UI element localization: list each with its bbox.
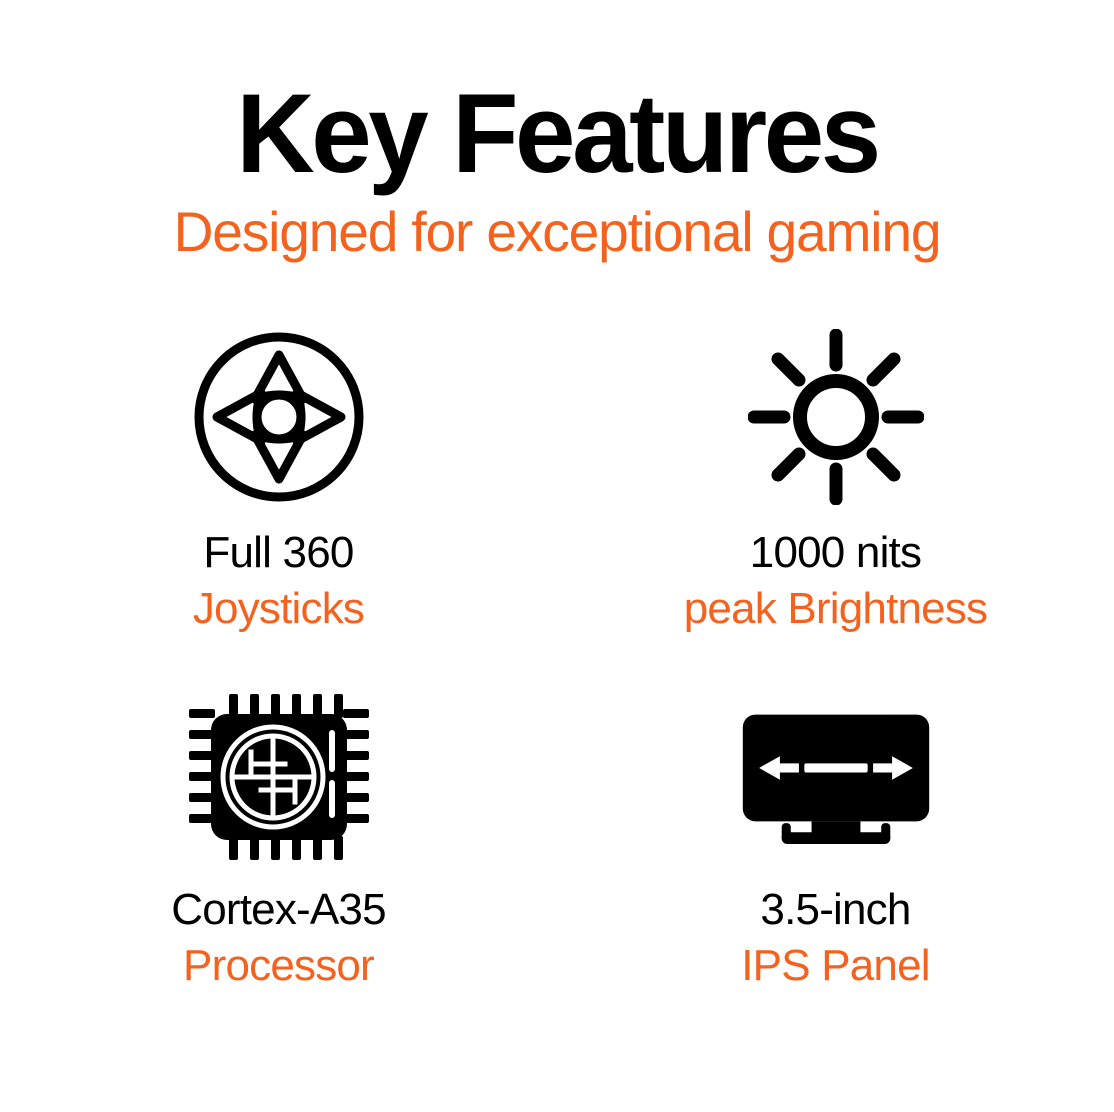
feature-primary-label: 1000 nits — [684, 528, 988, 578]
feature-secondary-label: Joysticks — [193, 584, 364, 634]
feature-card-joysticks: Full 360 Joysticks — [0, 322, 557, 687]
page-title: Key Features — [17, 78, 1098, 190]
joystick-dpad-icon — [184, 322, 374, 512]
feature-card-ips-panel: 3.5-inch IPS Panel — [557, 687, 1114, 1052]
feature-labels: 1000 nits peak Brightness — [684, 528, 988, 634]
brightness-sun-icon — [741, 322, 931, 512]
feature-labels: Cortex-A35 Processor — [171, 885, 386, 991]
feature-secondary-label: IPS Panel — [741, 941, 929, 991]
processor-chip-icon — [184, 687, 374, 867]
feature-card-processor: Cortex-A35 Processor — [0, 687, 557, 1052]
feature-secondary-label: peak Brightness — [684, 584, 988, 634]
header: Key Features Designed for exceptional ga… — [0, 78, 1114, 260]
key-features-infographic: Key Features Designed for exceptional ga… — [0, 0, 1114, 1112]
feature-card-brightness: 1000 nits peak Brightness — [557, 322, 1114, 687]
feature-primary-label: 3.5-inch — [741, 885, 929, 935]
feature-labels: 3.5-inch IPS Panel — [741, 885, 929, 991]
feature-primary-label: Full 360 — [193, 528, 364, 578]
feature-labels: Full 360 Joysticks — [193, 528, 364, 634]
feature-secondary-label: Processor — [171, 941, 386, 991]
feature-grid: Full 360 Joysticks — [0, 322, 1114, 1052]
monitor-screen-size-icon — [741, 687, 931, 867]
feature-primary-label: Cortex-A35 — [171, 885, 386, 935]
page-subtitle: Designed for exceptional gaming — [8, 204, 1105, 260]
